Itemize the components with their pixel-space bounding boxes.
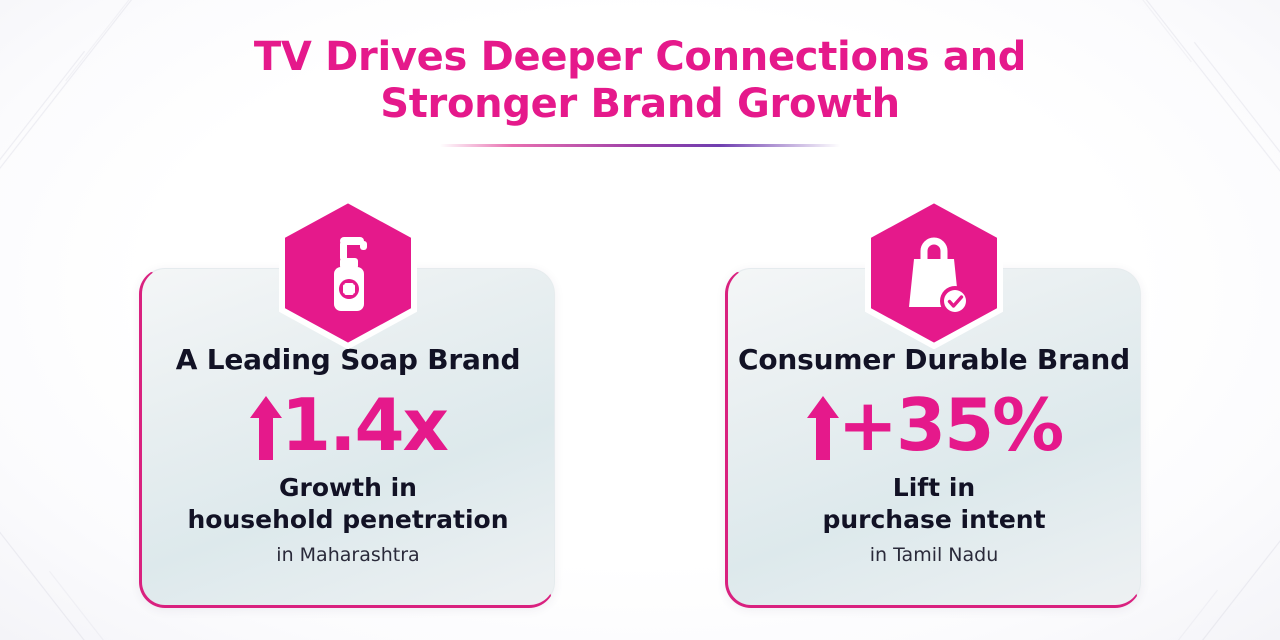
card-region-label: in Tamil Nadu bbox=[728, 544, 1140, 566]
stat-card-group: A Leading Soap Brand 1.4x Growth in hous… bbox=[0, 268, 1280, 608]
card-stat-row: +35% bbox=[728, 382, 1140, 468]
slide-canvas: TV Drives Deeper Connections and Stronge… bbox=[0, 0, 1280, 640]
shopping-bag-check-icon bbox=[860, 197, 1008, 349]
card-description: Lift in purchase intent bbox=[728, 472, 1140, 536]
card-stat-value: 1.4x bbox=[281, 389, 447, 461]
up-arrow-icon bbox=[249, 394, 283, 462]
card-description-line-1: Lift in bbox=[893, 473, 975, 502]
title-line-2: Stronger Brand Growth bbox=[380, 81, 900, 127]
card-stat-row: 1.4x bbox=[142, 382, 554, 468]
card-description: Growth in household penetration bbox=[142, 472, 554, 536]
soap-dispenser-icon bbox=[274, 197, 422, 349]
stat-card: Consumer Durable Brand +35% Lift in purc… bbox=[725, 268, 1141, 608]
title-underline-divider bbox=[440, 144, 840, 147]
card-description-line-2: household penetration bbox=[188, 505, 509, 534]
card-description-line-2: purchase intent bbox=[822, 505, 1045, 534]
stat-card: A Leading Soap Brand 1.4x Growth in hous… bbox=[139, 268, 555, 608]
card-description-line-1: Growth in bbox=[279, 473, 417, 502]
up-arrow-icon bbox=[806, 394, 840, 462]
title-line-1: TV Drives Deeper Connections and bbox=[254, 34, 1026, 80]
page-title: TV Drives Deeper Connections and Stronge… bbox=[0, 34, 1280, 147]
card-region-label: in Maharashtra bbox=[142, 544, 554, 566]
card-stat-value: +35% bbox=[838, 389, 1063, 461]
